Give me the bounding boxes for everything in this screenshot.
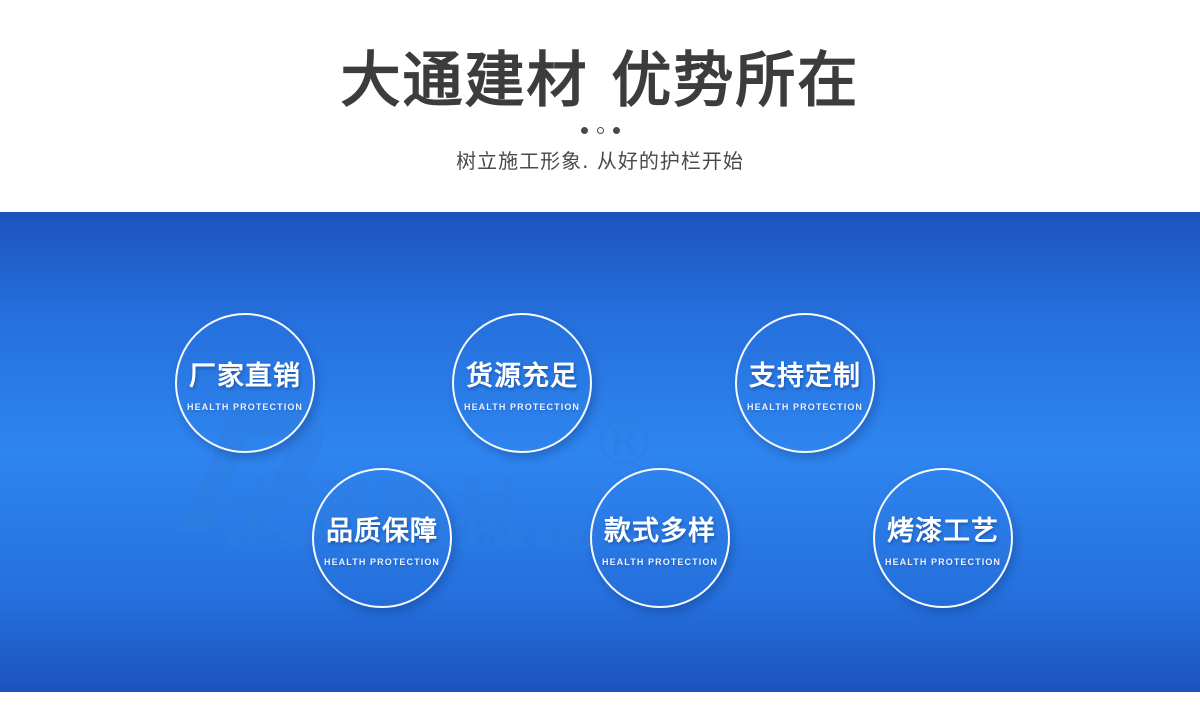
promo-banner-page: 大通建材 优势所在 树立施工形象. 从好的护栏开始 ® 大通建材 DATONG … bbox=[0, 0, 1200, 711]
feature-circle-3[interactable]: 支持定制 HEALTH PROTECTION bbox=[735, 313, 875, 453]
feature-subtitle: HEALTH PROTECTION bbox=[885, 557, 1001, 567]
feature-subtitle: HEALTH PROTECTION bbox=[324, 557, 440, 567]
feature-circle-2[interactable]: 货源充足 HEALTH PROTECTION bbox=[452, 313, 592, 453]
dot-filled-right bbox=[613, 127, 620, 134]
page-title: 大通建材 优势所在 bbox=[341, 50, 860, 113]
page-header: 大通建材 优势所在 树立施工形象. 从好的护栏开始 bbox=[0, 0, 1200, 212]
feature-subtitle: HEALTH PROTECTION bbox=[747, 402, 863, 412]
dot-filled-left bbox=[581, 127, 588, 134]
feature-title: 厂家直销 bbox=[189, 354, 301, 393]
footer-whitespace bbox=[0, 692, 1200, 711]
feature-title: 烤漆工艺 bbox=[887, 509, 999, 548]
feature-circle-1[interactable]: 厂家直销 HEALTH PROTECTION bbox=[175, 313, 315, 453]
feature-title: 品质保障 bbox=[326, 509, 438, 548]
feature-title: 款式多样 bbox=[604, 509, 716, 548]
registered-mark: ® bbox=[590, 410, 658, 478]
feature-circle-6[interactable]: 烤漆工艺 HEALTH PROTECTION bbox=[873, 468, 1013, 608]
dot-hollow-center bbox=[597, 127, 604, 134]
feature-subtitle: HEALTH PROTECTION bbox=[187, 402, 303, 412]
decorative-dots bbox=[581, 127, 620, 134]
feature-subtitle: HEALTH PROTECTION bbox=[464, 402, 580, 412]
feature-title: 货源充足 bbox=[466, 354, 578, 393]
feature-circle-5[interactable]: 款式多样 HEALTH PROTECTION bbox=[590, 468, 730, 608]
feature-circle-4[interactable]: 品质保障 HEALTH PROTECTION bbox=[312, 468, 452, 608]
features-panel: ® 大通建材 DATONG CONSTRUCTION MATERIALS 厂家直… bbox=[0, 212, 1200, 692]
feature-title: 支持定制 bbox=[749, 354, 861, 393]
page-subtitle: 树立施工形象. 从好的护栏开始 bbox=[456, 145, 744, 174]
feature-subtitle: HEALTH PROTECTION bbox=[602, 557, 718, 567]
